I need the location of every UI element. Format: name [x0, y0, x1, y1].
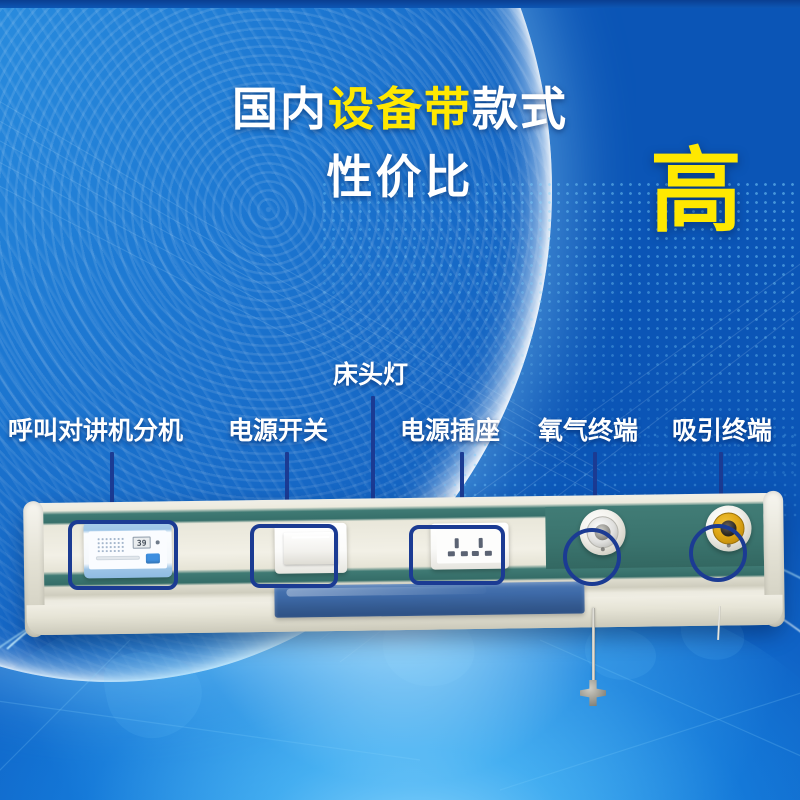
diffuser-gloss — [286, 586, 486, 597]
bed-light-diffuser — [274, 581, 584, 617]
callout-label-intercom: 呼叫对讲机分机 — [8, 418, 183, 443]
callout-label-bed-light: 床头灯 — [333, 362, 408, 387]
switch-rocker[interactable] — [284, 532, 338, 565]
headline-part-3: 款式 — [472, 82, 568, 136]
intercom-slot — [96, 556, 140, 561]
headline-part-2-highlight: 设备带 — [328, 82, 472, 136]
oxygen-outlet-core — [594, 524, 610, 540]
top-edge-bar — [0, 0, 800, 8]
callout-label-suction-terminal: 吸引终端 — [672, 418, 772, 443]
promo-banner: 国内设备带款式 性价比 高 呼叫对讲机分机 电源开关 床头灯 电源插座 氧气终端… — [0, 0, 800, 800]
bed-head-unit-panel: 39 — [25, 493, 783, 636]
callout-label-power-switch: 电源开关 — [228, 418, 328, 443]
nurse-call-intercom-unit[interactable]: 39 — [83, 521, 172, 578]
suction-outlet-marker — [727, 543, 731, 547]
callout-label-oxygen-terminal: 氧气终端 — [538, 418, 638, 443]
socket-pin-2 — [461, 551, 468, 556]
socket-pin-3 — [472, 551, 479, 556]
oxygen-outlet-marker — [601, 547, 605, 551]
headline-big-word: 高 — [650, 146, 742, 238]
headline-part-1: 国内 — [232, 82, 328, 136]
pull-cord-rod — [592, 608, 595, 690]
status-led-icon — [156, 540, 160, 544]
intercom-display: 39 — [133, 537, 151, 549]
socket-pin-1 — [448, 551, 455, 556]
headline-line-1: 国内设备带款式 — [0, 86, 800, 132]
power-switch-unit[interactable] — [274, 523, 347, 574]
socket-pin-r-top — [479, 538, 483, 548]
socket-pin-4 — [485, 551, 492, 556]
intercom-call-button[interactable] — [146, 553, 160, 563]
callout-label-power-socket: 电源插座 — [400, 418, 500, 443]
speaker-grille-icon — [97, 537, 125, 552]
power-socket-unit[interactable] — [430, 523, 509, 570]
intercom-face: 39 — [89, 530, 168, 569]
socket-pin-l-top — [455, 538, 459, 548]
socket-faceplate — [437, 529, 503, 564]
